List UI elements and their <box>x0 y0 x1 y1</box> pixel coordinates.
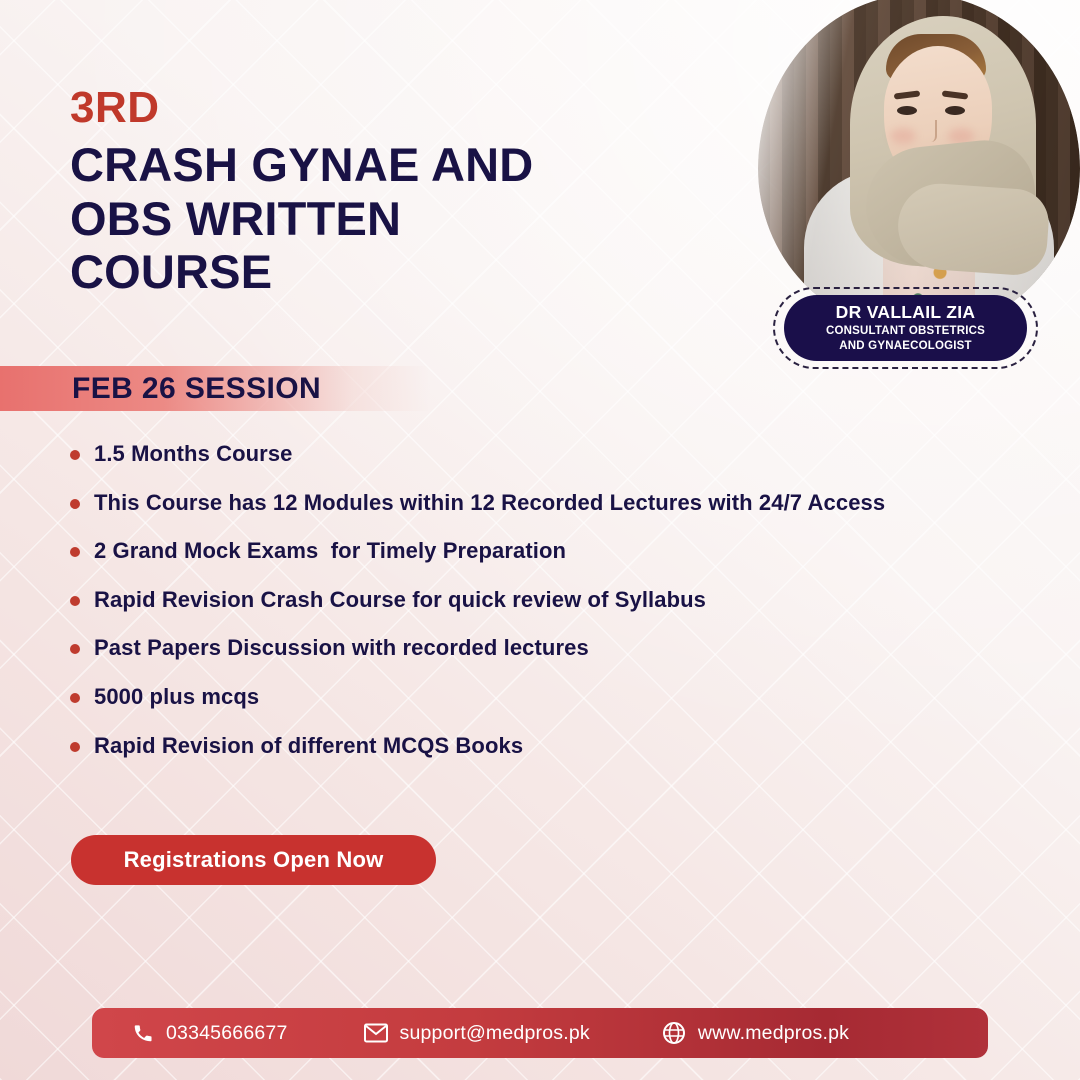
doctor-role-line-2: AND GYNAECOLOGIST <box>839 340 971 353</box>
feature-text: Rapid Revision of different MCQS Books <box>94 732 523 761</box>
eye-left <box>897 106 917 115</box>
bullet-dot-icon <box>70 450 80 460</box>
website-url: www.medpros.pk <box>698 1022 849 1045</box>
course-promo-poster: DR VALLAIL ZIA CONSULTANT OBSTETRICS AND… <box>0 0 1080 1080</box>
bullet-dot-icon <box>70 742 80 752</box>
title-line-1: CRASH GYNAE AND <box>70 138 533 192</box>
title-line-3: COURSE <box>70 245 533 299</box>
doctor-photo-mask <box>758 0 1080 330</box>
list-item: Rapid Revision of different MCQS Books <box>70 732 1030 761</box>
doctor-role-line-1: CONSULTANT OBSTETRICS <box>826 325 985 338</box>
bullet-dot-icon <box>70 499 80 509</box>
page-title: CRASH GYNAE AND OBS WRITTEN COURSE <box>70 138 533 299</box>
feature-text: 1.5 Months Course <box>94 440 293 469</box>
feature-text: Rapid Revision Crash Course for quick re… <box>94 586 706 615</box>
registrations-open-button[interactable]: Registrations Open Now <box>71 835 436 885</box>
hijab-fold-inner <box>895 181 1051 277</box>
bullet-dot-icon <box>70 547 80 557</box>
feature-text: 5000 plus mcqs <box>94 683 259 712</box>
nose <box>928 120 937 142</box>
cheek-left <box>890 128 916 144</box>
globe-icon <box>662 1021 686 1045</box>
list-item: 5000 plus mcqs <box>70 683 1030 712</box>
title-line-2: OBS WRITTEN <box>70 192 533 246</box>
list-item: 2 Grand Mock Exams for Timely Preparatio… <box>70 537 1030 566</box>
email-address: support@medpros.pk <box>400 1022 590 1045</box>
bullet-dot-icon <box>70 693 80 703</box>
headline-block: 3RD CRASH GYNAE AND OBS WRITTEN COURSE <box>70 86 533 299</box>
list-item: This Course has 12 Modules within 12 Rec… <box>70 489 1030 518</box>
phone-number: 03345666677 <box>166 1022 288 1045</box>
feature-text: Past Papers Discussion with recorded lec… <box>94 634 589 663</box>
eye-right <box>945 106 965 115</box>
feature-text: 2 Grand Mock Exams for Timely Preparatio… <box>94 537 566 566</box>
doctor-name-badge: DR VALLAIL ZIA CONSULTANT OBSTETRICS AND… <box>784 295 1027 361</box>
session-banner: FEB 26 SESSION <box>0 366 430 411</box>
session-label: FEB 26 SESSION <box>72 372 321 406</box>
bullet-dot-icon <box>70 596 80 606</box>
edition-number: 3RD <box>70 86 533 130</box>
photo-scene <box>758 0 1080 330</box>
doctor-photo <box>750 0 1080 334</box>
feature-text: This Course has 12 Modules within 12 Rec… <box>94 489 885 518</box>
feature-list: 1.5 Months Course This Course has 12 Mod… <box>70 440 1030 780</box>
bullet-dot-icon <box>70 644 80 654</box>
contact-footer-bar: 03345666677 support@medpros.pk www.medpr… <box>92 1008 988 1058</box>
list-item: 1.5 Months Course <box>70 440 1030 469</box>
envelope-icon <box>364 1023 388 1043</box>
list-item: Rapid Revision Crash Course for quick re… <box>70 586 1030 615</box>
phone-icon <box>132 1022 154 1044</box>
doctor-name: DR VALLAIL ZIA <box>836 303 976 323</box>
contact-phone[interactable]: 03345666677 <box>132 1022 288 1045</box>
contact-email[interactable]: support@medpros.pk <box>364 1022 590 1045</box>
list-item: Past Papers Discussion with recorded lec… <box>70 634 1030 663</box>
contact-website[interactable]: www.medpros.pk <box>662 1021 849 1045</box>
